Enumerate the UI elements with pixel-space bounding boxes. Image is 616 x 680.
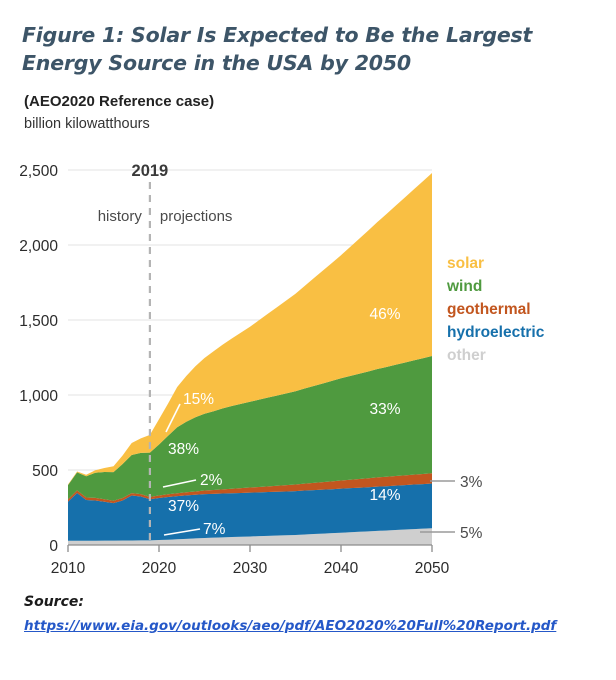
svg-text:2040: 2040 bbox=[324, 560, 359, 577]
geothermal-2050-share-label: 3% bbox=[460, 474, 483, 491]
legend-item-wind[interactable]: wind bbox=[447, 276, 544, 299]
wind-2019-share-label: 38% bbox=[168, 441, 199, 458]
history-label: history bbox=[98, 208, 143, 225]
svg-text:2,000: 2,000 bbox=[19, 238, 58, 255]
svg-text:2030: 2030 bbox=[233, 560, 268, 577]
svg-text:500: 500 bbox=[32, 463, 58, 480]
svg-text:2050: 2050 bbox=[415, 560, 450, 577]
svg-text:1,000: 1,000 bbox=[19, 388, 58, 405]
x-axis-ticks bbox=[68, 545, 432, 552]
other-2050-share-label: 5% bbox=[460, 525, 483, 542]
projections-label: projections bbox=[160, 208, 233, 225]
geothermal-2019-share-label: 2% bbox=[200, 472, 223, 489]
solar-2019-share-label: 15% bbox=[183, 391, 214, 408]
divider-year-label: 2019 bbox=[132, 162, 169, 180]
x-axis-tick-labels: 20102020203020402050 bbox=[51, 560, 450, 577]
svg-text:2,500: 2,500 bbox=[19, 163, 58, 180]
source-label: Source: bbox=[24, 594, 84, 610]
legend-item-solar[interactable]: solar bbox=[447, 253, 544, 276]
svg-text:1,500: 1,500 bbox=[19, 313, 58, 330]
source-block: Source: https://www.eia.gov/outlooks/aeo… bbox=[24, 592, 556, 637]
source-link[interactable]: https://www.eia.gov/outlooks/aeo/pdf/AEO… bbox=[24, 616, 556, 637]
hydroelectric-2050-share-label: 14% bbox=[369, 487, 400, 504]
svg-text:0: 0 bbox=[49, 538, 58, 555]
wind-2050-share-label: 33% bbox=[369, 401, 400, 418]
legend-item-other[interactable]: other bbox=[447, 345, 544, 368]
svg-text:2010: 2010 bbox=[51, 560, 86, 577]
other-2019-share-label: 7% bbox=[203, 521, 226, 538]
hydroelectric-2019-share-label: 37% bbox=[168, 498, 199, 515]
legend-item-geothermal[interactable]: geothermal bbox=[447, 299, 544, 322]
legend-item-hydroelectric[interactable]: hydroelectric bbox=[447, 322, 544, 345]
y-axis-tick-labels: 05001,0001,5002,0002,500 bbox=[19, 163, 58, 555]
svg-text:2020: 2020 bbox=[142, 560, 177, 577]
solar-2050-share-label: 46% bbox=[369, 306, 400, 323]
chart-legend: solarwindgeothermalhydroelectricother bbox=[447, 253, 544, 368]
figure-container: Figure 1: Solar Is Expected to Be the La… bbox=[0, 0, 616, 680]
